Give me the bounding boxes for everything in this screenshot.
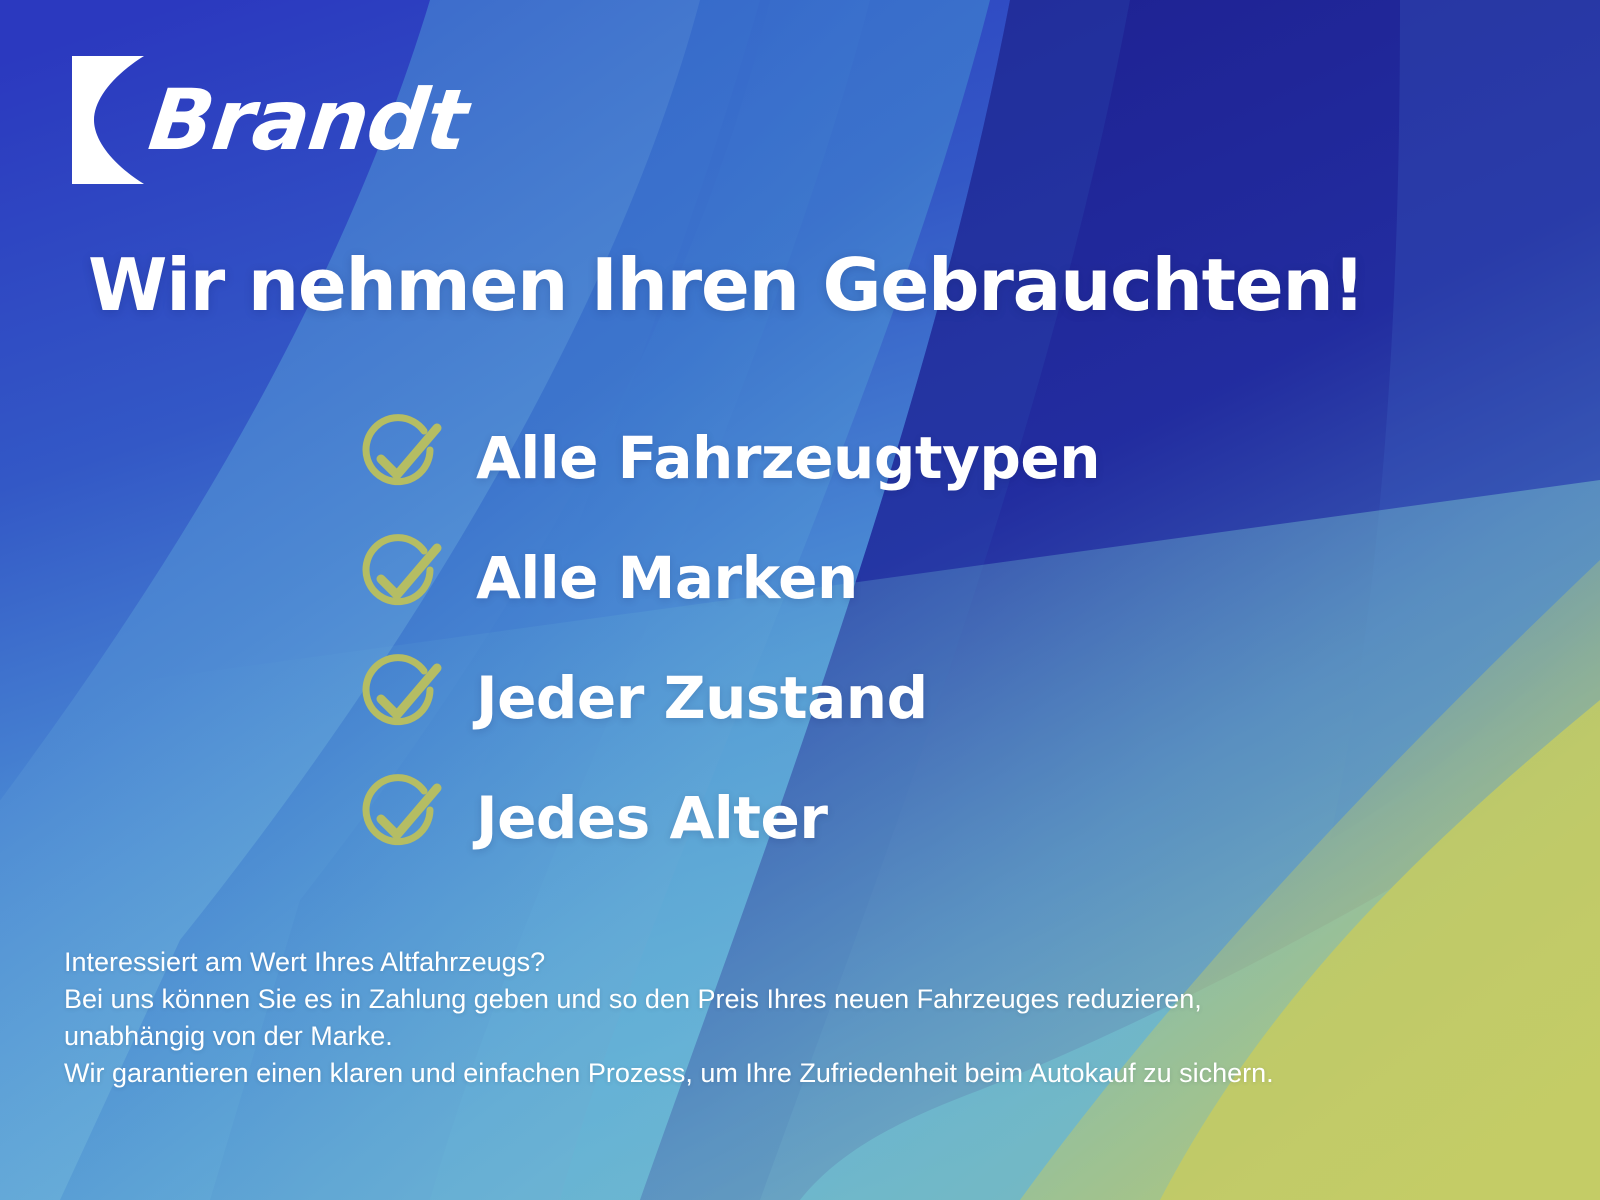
feature-item: Jeder Zustand	[356, 638, 1100, 758]
check-circle-icon	[356, 654, 444, 742]
feature-label: Alle Fahrzeugtypen	[476, 429, 1100, 487]
brand-name: Brandt	[145, 78, 472, 162]
promo-banner: Brandt Wir nehmen Ihren Gebrauchten! All…	[0, 0, 1600, 1200]
footer-line: Wir garantieren einen klaren und einfach…	[64, 1055, 1464, 1092]
feature-label: Jedes Alter	[476, 789, 827, 847]
headline: Wir nehmen Ihren Gebrauchten!	[88, 248, 1364, 324]
footer-paragraph: Interessiert am Wert Ihres Altfahrzeugs?…	[64, 944, 1464, 1092]
check-circle-icon	[356, 534, 444, 622]
feature-list: Alle Fahrzeugtypen Alle Marken Jeder Zus…	[356, 398, 1100, 878]
feature-label: Alle Marken	[476, 549, 858, 607]
check-circle-icon	[356, 414, 444, 502]
footer-line: unabhängig von der Marke.	[64, 1018, 1464, 1055]
feature-label: Jeder Zustand	[476, 669, 928, 727]
feature-item: Jedes Alter	[356, 758, 1100, 878]
brandt-bracket-mark-icon	[72, 56, 144, 184]
brand-logo[interactable]: Brandt	[72, 56, 466, 184]
footer-line: Interessiert am Wert Ihres Altfahrzeugs?	[64, 944, 1464, 981]
footer-line: Bei uns können Sie es in Zahlung geben u…	[64, 981, 1464, 1018]
feature-item: Alle Fahrzeugtypen	[356, 398, 1100, 518]
check-circle-icon	[356, 774, 444, 862]
feature-item: Alle Marken	[356, 518, 1100, 638]
